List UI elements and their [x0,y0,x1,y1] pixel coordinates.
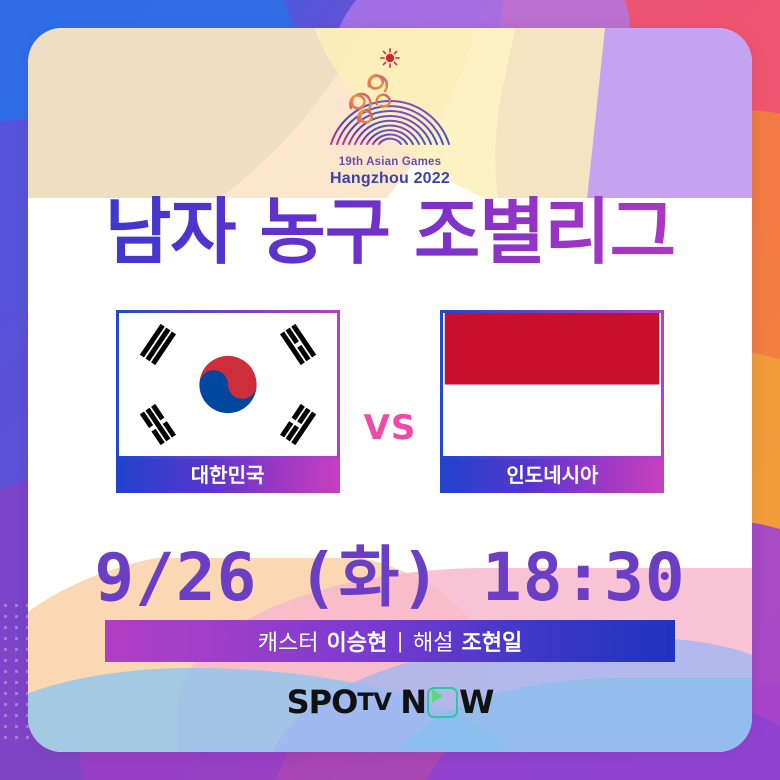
south-korea-flag [116,310,340,459]
caster-label: 캐스터 [258,625,319,657]
emblem-title: Hangzhou 2022 [0,170,780,188]
spotv-now-logo: SPO TV N W [0,683,780,721]
asian-games-emblem-icon [315,52,465,147]
indonesia-flag-icon [443,313,661,456]
event-emblem-block: 19th Asian Games Hangzhou 2022 [0,52,780,189]
team-away-name: 인도네시아 [440,459,664,493]
team-home: 대한민국 [116,310,340,493]
match-datetime: 9/26 (화) 18:30 [0,524,780,620]
team-home-name: 대한민국 [116,459,340,493]
page-title: 남자 농구 조별리그 [0,196,780,268]
commentator-name: 조현일 [461,625,522,657]
logo-tv-text: TV [357,688,391,716]
crew-separator: | [395,628,405,654]
match-promo-poster: 19th Asian Games Hangzhou 2022 남자 농구 조별리… [0,0,780,780]
team-away: 인도네시아 [440,310,664,493]
caster-name: 이승현 [327,625,388,657]
taegukgi-icon [119,313,337,456]
matchup-row: 대한민국 VS 인도네시아 [0,310,780,493]
broadcast-crew-bar: 캐스터 이승현 | 해설 조현일 [105,620,675,662]
commentator-label: 해설 [413,625,453,657]
emblem-subtitle: 19th Asian Games [0,156,780,169]
play-button-icon [427,687,458,718]
vs-label: VS [364,408,417,448]
logo-spo-text: SPO [287,683,358,721]
red-sun-icon [380,48,400,68]
logo-w-text: W [459,683,493,721]
logo-n-text: N [400,683,426,721]
indonesia-flag [440,310,664,459]
